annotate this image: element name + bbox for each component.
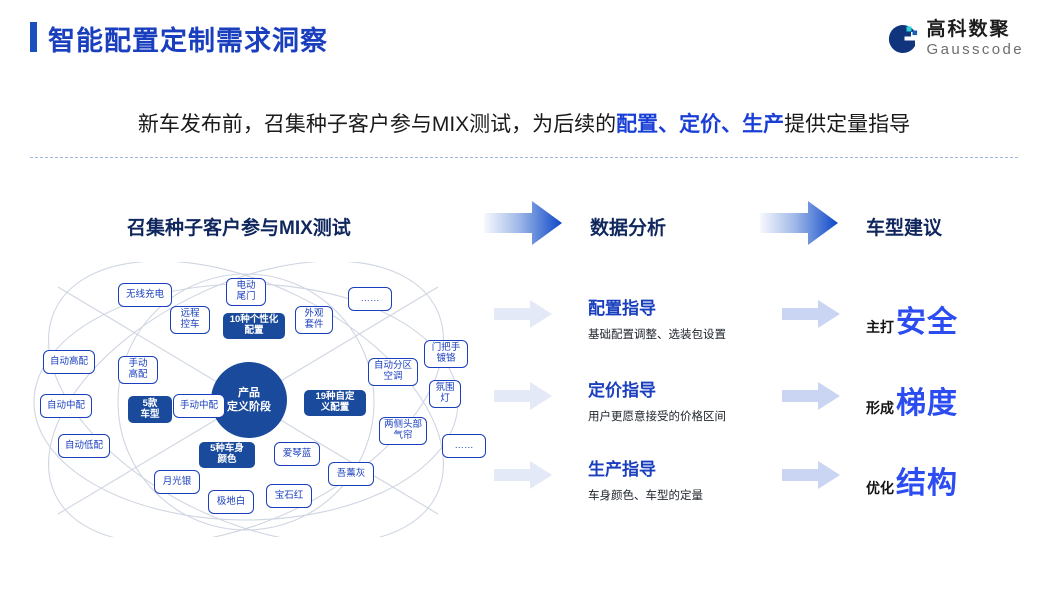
conclusion-row-gradient: 形成 梯度 <box>866 378 958 422</box>
mindmap-leaf-power-tailgate[interactable]: 电动 尾门 <box>226 278 266 306</box>
mindmap-leaf-chrome-door-handle[interactable]: 门把手 镀铬 <box>424 340 468 368</box>
stage-arrow-1-icon <box>484 200 562 246</box>
analysis-row-production: 生产指导 车身颜色、车型的定量 <box>588 461 703 503</box>
conclusion-prefix-safety: 主打 <box>866 317 894 337</box>
analysis-row-pricing: 定价指导 用户更愿意接受的价格区间 <box>588 382 726 424</box>
mindmap-leaf-auto-high-trim[interactable]: 自动高配 <box>43 350 95 374</box>
gausscode-g-logo-icon <box>885 22 919 56</box>
mindmap-leaf-manual-mid-trim[interactable]: 手动中配 <box>173 394 225 418</box>
subtitle-highlight: 配置、定价、生产 <box>616 113 784 136</box>
conclusion-prefix-structure: 优化 <box>866 478 894 498</box>
mindmap-leaf-exterior-kit[interactable]: 外观 套件 <box>295 306 333 334</box>
conclusion-main-safety: 安全 <box>896 297 958 341</box>
mindmap-leaf-remote-control[interactable]: 远程 控车 <box>170 306 210 334</box>
conclusion-row-structure: 优化 结构 <box>866 458 958 502</box>
stage-heading-collect: 召集种子客户参与MIX测试 <box>127 213 351 240</box>
mindmap-branch-personalized-config[interactable]: 10种个性化 配置 <box>223 313 285 339</box>
analysis-sub-config: 基础配置调整、选装包设置 <box>588 326 726 342</box>
section-divider <box>30 157 1018 158</box>
subtitle-part2: 提供定量指导 <box>784 113 910 136</box>
mindmap-leaf-side-head-curtain[interactable]: 两侧头部 气帘 <box>379 417 427 445</box>
mindmap-leaf-moonlight-silver[interactable]: 月光银 <box>154 470 200 494</box>
stage-arrow-2-icon <box>760 200 838 246</box>
flow-arrow-left-3-icon <box>494 461 552 489</box>
mindmap-leaf-manual-high-trim[interactable]: 手动 高配 <box>118 356 158 384</box>
analysis-title-pricing: 定价指导 <box>588 382 726 401</box>
mindmap-leaf-wireless-charging[interactable]: 无线充电 <box>118 283 172 307</box>
logo-text-cn: 高科数聚 <box>927 20 1024 39</box>
conclusion-row-safety: 主打 安全 <box>866 297 958 341</box>
flow-arrow-left-1-icon <box>494 300 552 328</box>
mindmap-leaf-auto-low-trim[interactable]: 自动低配 <box>58 434 110 458</box>
flow-arrow-right-2-icon <box>782 382 840 410</box>
stage-heading-analysis: 数据分析 <box>590 213 666 240</box>
mindmap-leaf-lavender-grey[interactable]: 吾薰灰 <box>328 462 374 486</box>
stage-heading-recommendation: 车型建议 <box>866 213 942 240</box>
mindmap-leaf-polar-white[interactable]: 极地白 <box>208 490 254 514</box>
analysis-title-config: 配置指导 <box>588 300 726 319</box>
mindmap-branch-custom-config[interactable]: 19种自定 义配置 <box>304 390 366 416</box>
mindmap-leaf-ellipsis-top[interactable]: …… <box>348 287 392 311</box>
analysis-sub-pricing: 用户更愿意接受的价格区间 <box>588 408 726 424</box>
mindmap-branch-body-colors[interactable]: 5种车身 颜色 <box>199 442 255 468</box>
analysis-row-config: 配置指导 基础配置调整、选装包设置 <box>588 300 726 342</box>
mindmap: 产品 定义阶段 10种个性化 配置 5款 车型 19种自定 义配置 5种车身 颜… <box>18 262 498 537</box>
logo-text-en: Gausscode <box>927 42 1024 57</box>
flow-arrow-left-2-icon <box>494 382 552 410</box>
title-accent-bar <box>30 22 37 52</box>
brand-logo: 高科数聚 Gausscode <box>885 20 1024 57</box>
page-title: 智能配置定制需求洞察 <box>48 19 328 58</box>
mindmap-leaf-auto-mid-trim[interactable]: 自动中配 <box>40 394 92 418</box>
subtitle-part1: 新车发布前，召集种子客户参与MIX测试，为后续的 <box>138 113 616 136</box>
mindmap-branch-models[interactable]: 5款 车型 <box>128 396 172 423</box>
mindmap-leaf-ruby-red[interactable]: 宝石红 <box>266 484 312 508</box>
slide-root: 智能配置定制需求洞察 高科数聚 Gausscode 新车发布前，召集种子客户参与… <box>0 0 1048 589</box>
mindmap-leaf-ambient-light[interactable]: 氛围 灯 <box>429 380 461 408</box>
conclusion-prefix-gradient: 形成 <box>866 398 894 418</box>
analysis-title-production: 生产指导 <box>588 461 703 480</box>
conclusion-main-structure: 结构 <box>896 458 958 502</box>
conclusion-main-gradient: 梯度 <box>896 378 958 422</box>
flow-arrow-right-1-icon <box>782 300 840 328</box>
flow-arrow-right-3-icon <box>782 461 840 489</box>
mindmap-leaf-aegean-blue[interactable]: 爱琴蓝 <box>274 442 320 466</box>
subtitle: 新车发布前，召集种子客户参与MIX测试，为后续的配置、定价、生产提供定量指导 <box>0 108 1048 138</box>
analysis-sub-production: 车身颜色、车型的定量 <box>588 487 703 503</box>
mindmap-leaf-auto-zone-ac[interactable]: 自动分区 空调 <box>368 358 418 386</box>
mindmap-leaf-ellipsis-bottom[interactable]: …… <box>442 434 486 458</box>
